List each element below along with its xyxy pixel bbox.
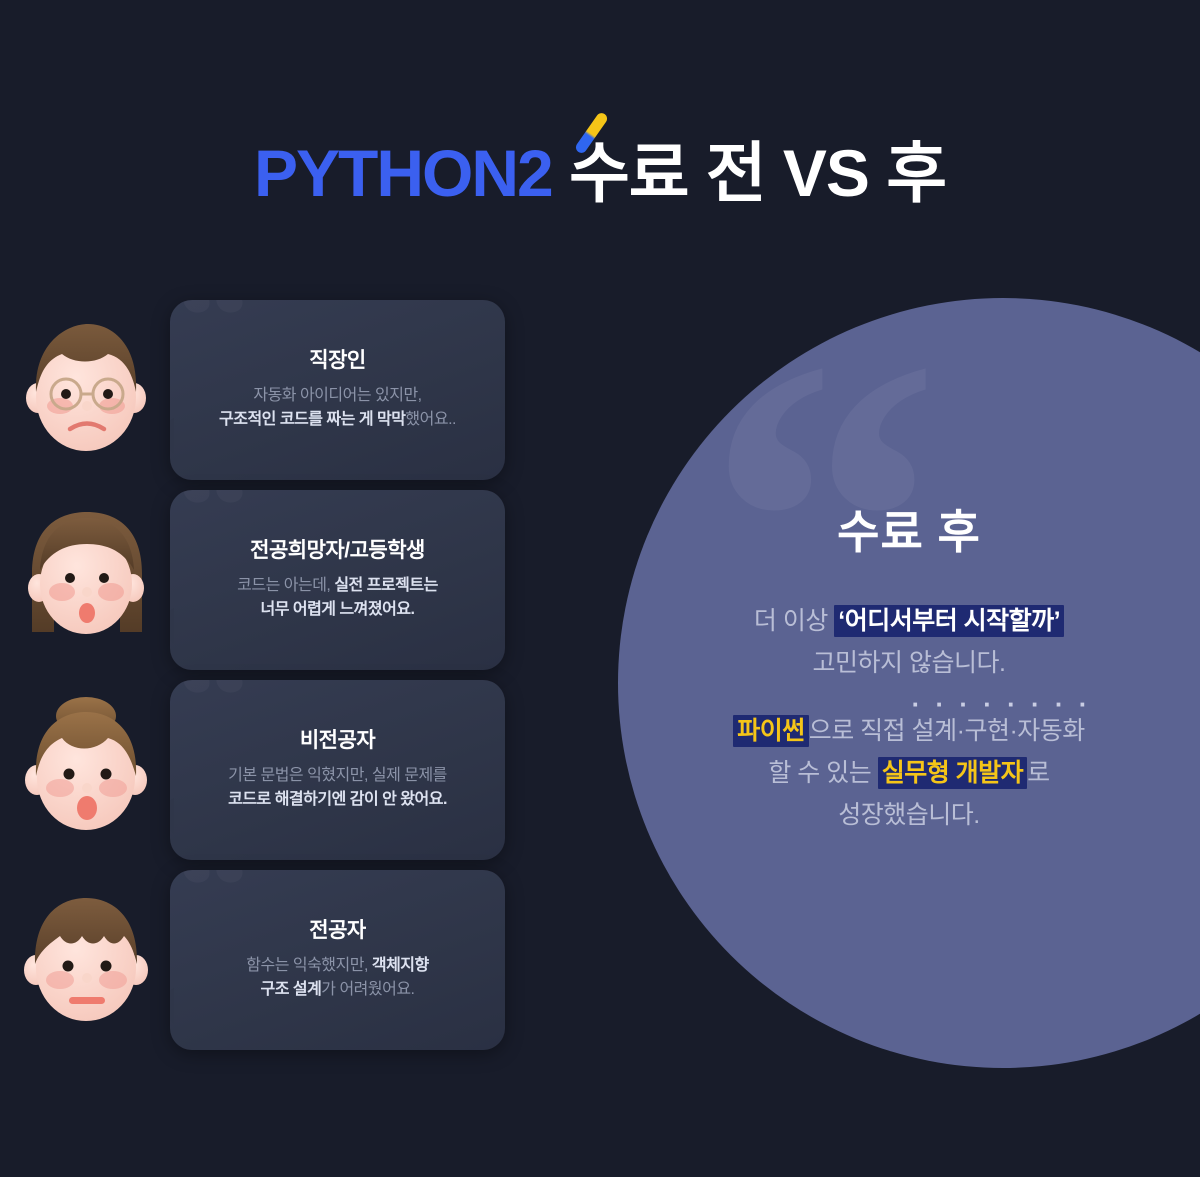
after-line4-suffix: 로 — [1027, 759, 1050, 787]
testimonial-line2-plain: 가 어려웠어요. — [321, 981, 414, 998]
page-title: PYTHON2 수료 전 VS 후 — [0, 140, 1200, 206]
testimonial-line2-plain: 했어요.. — [405, 411, 456, 428]
after-line4-highlight: 실무형 개발자 — [878, 757, 1027, 789]
testimonial-card: “ 직장인 자동화 아이디어는 있지만, 구조적인 코드를 짜는 게 막막했어요… — [170, 300, 505, 480]
testimonial-title: 직장인 — [188, 344, 487, 374]
girl-long-hair-surprised-avatar — [12, 504, 162, 664]
testimonial-line2-bold: 구조적인 코드를 짜는 게 막막 — [219, 411, 405, 428]
testimonial-title: 비전공자 — [188, 724, 487, 754]
testimonial-body: 자동화 아이디어는 있지만, 구조적인 코드를 짜는 게 막막했어요.. — [188, 384, 487, 433]
after-line3-emphasis: 설계·구현·자동화 — [912, 717, 1085, 745]
after-completion-circle: “ 수료 후 더 이상 ‘어디서부터 시작할까’ 고민하지 않습니다. 파이썬으… — [618, 298, 1200, 1068]
after-line-1: 더 이상 ‘어디서부터 시작할까’ — [754, 600, 1064, 642]
woman-bun-surprised-avatar — [12, 694, 162, 854]
after-title: 수료 후 — [837, 496, 981, 562]
testimonial-row: “ 전공자 함수는 익숙했지만, 객체지향 구조 설계가 어려웠어요. — [0, 870, 540, 1060]
after-line-5: 성장했습니다. — [838, 794, 979, 836]
testimonial-line1-plain: 코드는 아는데, — [237, 577, 334, 594]
after-line1-highlight: ‘어디서부터 시작할까’ — [834, 605, 1064, 637]
title-rest: 수료 전 VS 후 — [569, 136, 946, 210]
testimonial-line1-bold: 실전 프로젝트는 — [334, 577, 438, 594]
after-line-3: 파이썬으로 직접 설계·구현·자동화 — [733, 710, 1085, 752]
testimonial-line2-bold: 코드로 해결하기엔 감이 안 왔어요. — [228, 791, 447, 808]
testimonial-line1-plain: 자동화 아이디어는 있지만, — [253, 387, 421, 404]
testimonial-body: 기본 문법은 익혔지만, 실제 문제를 코드로 해결하기엔 감이 안 왔어요. — [188, 764, 487, 813]
testimonial-card: “ 전공자 함수는 익숙했지만, 객체지향 구조 설계가 어려웠어요. — [170, 870, 505, 1050]
testimonial-line1-plain: 기본 문법은 익혔지만, 실제 문제를 — [228, 767, 447, 784]
testimonial-title: 전공자 — [188, 914, 487, 944]
after-line-4: 할 수 있는 실무형 개발자로 — [768, 752, 1049, 794]
testimonial-title: 전공희망자/고등학생 — [188, 534, 487, 564]
testimonial-line2-bold: 너무 어렵게 느껴졌어요. — [260, 601, 414, 618]
testimonial-line2-bold: 구조 설계 — [260, 981, 321, 998]
testimonial-row: “ 전공희망자/고등학생 코드는 아는데, 실전 프로젝트는 너무 어렵게 느껴… — [0, 490, 540, 680]
testimonial-line1-bold: 객체지향 — [372, 957, 429, 974]
testimonial-row: “ 직장인 자동화 아이디어는 있지만, 구조적인 코드를 짜는 게 막막했어요… — [0, 300, 540, 490]
man-glasses-frowning-avatar — [12, 314, 162, 474]
testimonial-body: 코드는 아는데, 실전 프로젝트는 너무 어렵게 느껴졌어요. — [188, 574, 487, 623]
after-line4-prefix: 할 수 있는 — [768, 759, 877, 787]
after-line-2: 고민하지 않습니다. — [813, 642, 1006, 684]
testimonial-card: “ 전공희망자/고등학생 코드는 아는데, 실전 프로젝트는 너무 어렵게 느껴… — [170, 490, 505, 670]
boy-bowlcut-neutral-avatar — [12, 884, 162, 1044]
testimonial-row: “ 비전공자 기본 문법은 익혔지만, 실제 문제를 코드로 해결하기엔 감이 … — [0, 680, 540, 870]
testimonial-line1-plain: 함수는 익숙했지만, — [246, 957, 372, 974]
testimonial-body: 함수는 익숙했지만, 객체지향 구조 설계가 어려웠어요. — [188, 954, 487, 1003]
after-content: 수료 후 더 이상 ‘어디서부터 시작할까’ 고민하지 않습니다. 파이썬으로 … — [618, 298, 1200, 1068]
title-brand: PYTHON2 — [254, 136, 552, 210]
after-line3-highlight: 파이썬 — [733, 715, 809, 747]
after-line1-prefix: 더 이상 — [754, 607, 834, 635]
after-line3-mid: 으로 직접 — [809, 717, 912, 745]
testimonial-card: “ 비전공자 기본 문법은 익혔지만, 실제 문제를 코드로 해결하기엔 감이 … — [170, 680, 505, 860]
